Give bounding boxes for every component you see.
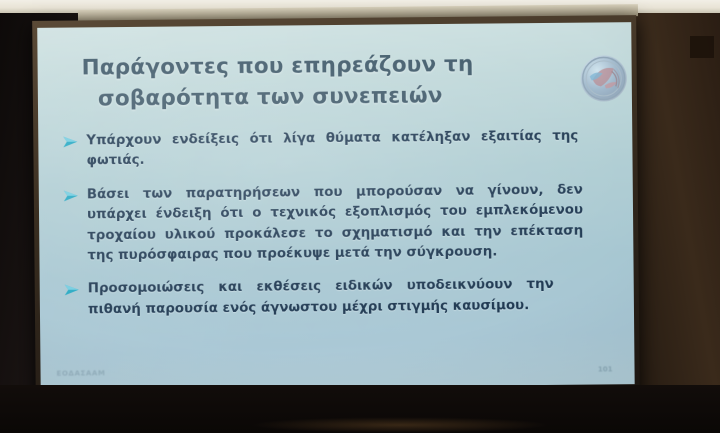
projection-screen: Παράγοντες που επηρεάζουν τη σοβαρότητα … — [32, 15, 640, 407]
wall-fixture — [690, 36, 714, 58]
projection-photo-scene: Παράγοντες που επηρεάζουν τη σοβαρότητα … — [0, 0, 720, 433]
slide-title-line-2: σοβαρότητα των συνεπειών — [82, 80, 532, 115]
room-wall-right — [636, 8, 720, 433]
slide-page-number: 101 — [598, 365, 613, 373]
bullet-text: Υπάρχουν ενδείξεις ότι λίγα θύματα κατέλ… — [86, 127, 578, 172]
slide-title: Παράγοντες που επηρεάζουν τη σοβαρότητα … — [81, 49, 532, 114]
slide-title-line-1: Παράγοντες που επηρεάζουν τη — [81, 49, 531, 84]
slide-footer-watermark: ΕΟΔΑΣΑΑΜ — [57, 369, 106, 377]
arrow-bullet-icon — [64, 280, 88, 297]
slide-bullet-list: Υπάρχουν ενδείξεις ότι λίγα θύματα κατέλ… — [62, 126, 608, 333]
arrow-bullet-icon — [63, 185, 87, 202]
bullet-item: Προσομοιώσεις και εκθέσεις ειδικών υποδε… — [64, 275, 608, 321]
bullet-item: Υπάρχουν ενδείξεις ότι λίγα θύματα κατέλ… — [62, 126, 606, 172]
bullet-text: Προσομοιώσεις και εκθέσεις ειδικών υποδε… — [88, 275, 554, 320]
floor-light-glow — [250, 417, 550, 433]
bullet-item: Βάσει των παρατηρήσεων που μπορούσαν να … — [63, 180, 608, 267]
bullet-text: Βάσει των παρατηρήσεων που μπορούσαν να … — [87, 180, 584, 266]
arrow-bullet-icon — [62, 131, 86, 148]
institutional-emblem-icon — [581, 55, 627, 101]
presentation-slide: Παράγοντες που επηρεάζουν τη σοβαρότητα … — [37, 22, 634, 390]
